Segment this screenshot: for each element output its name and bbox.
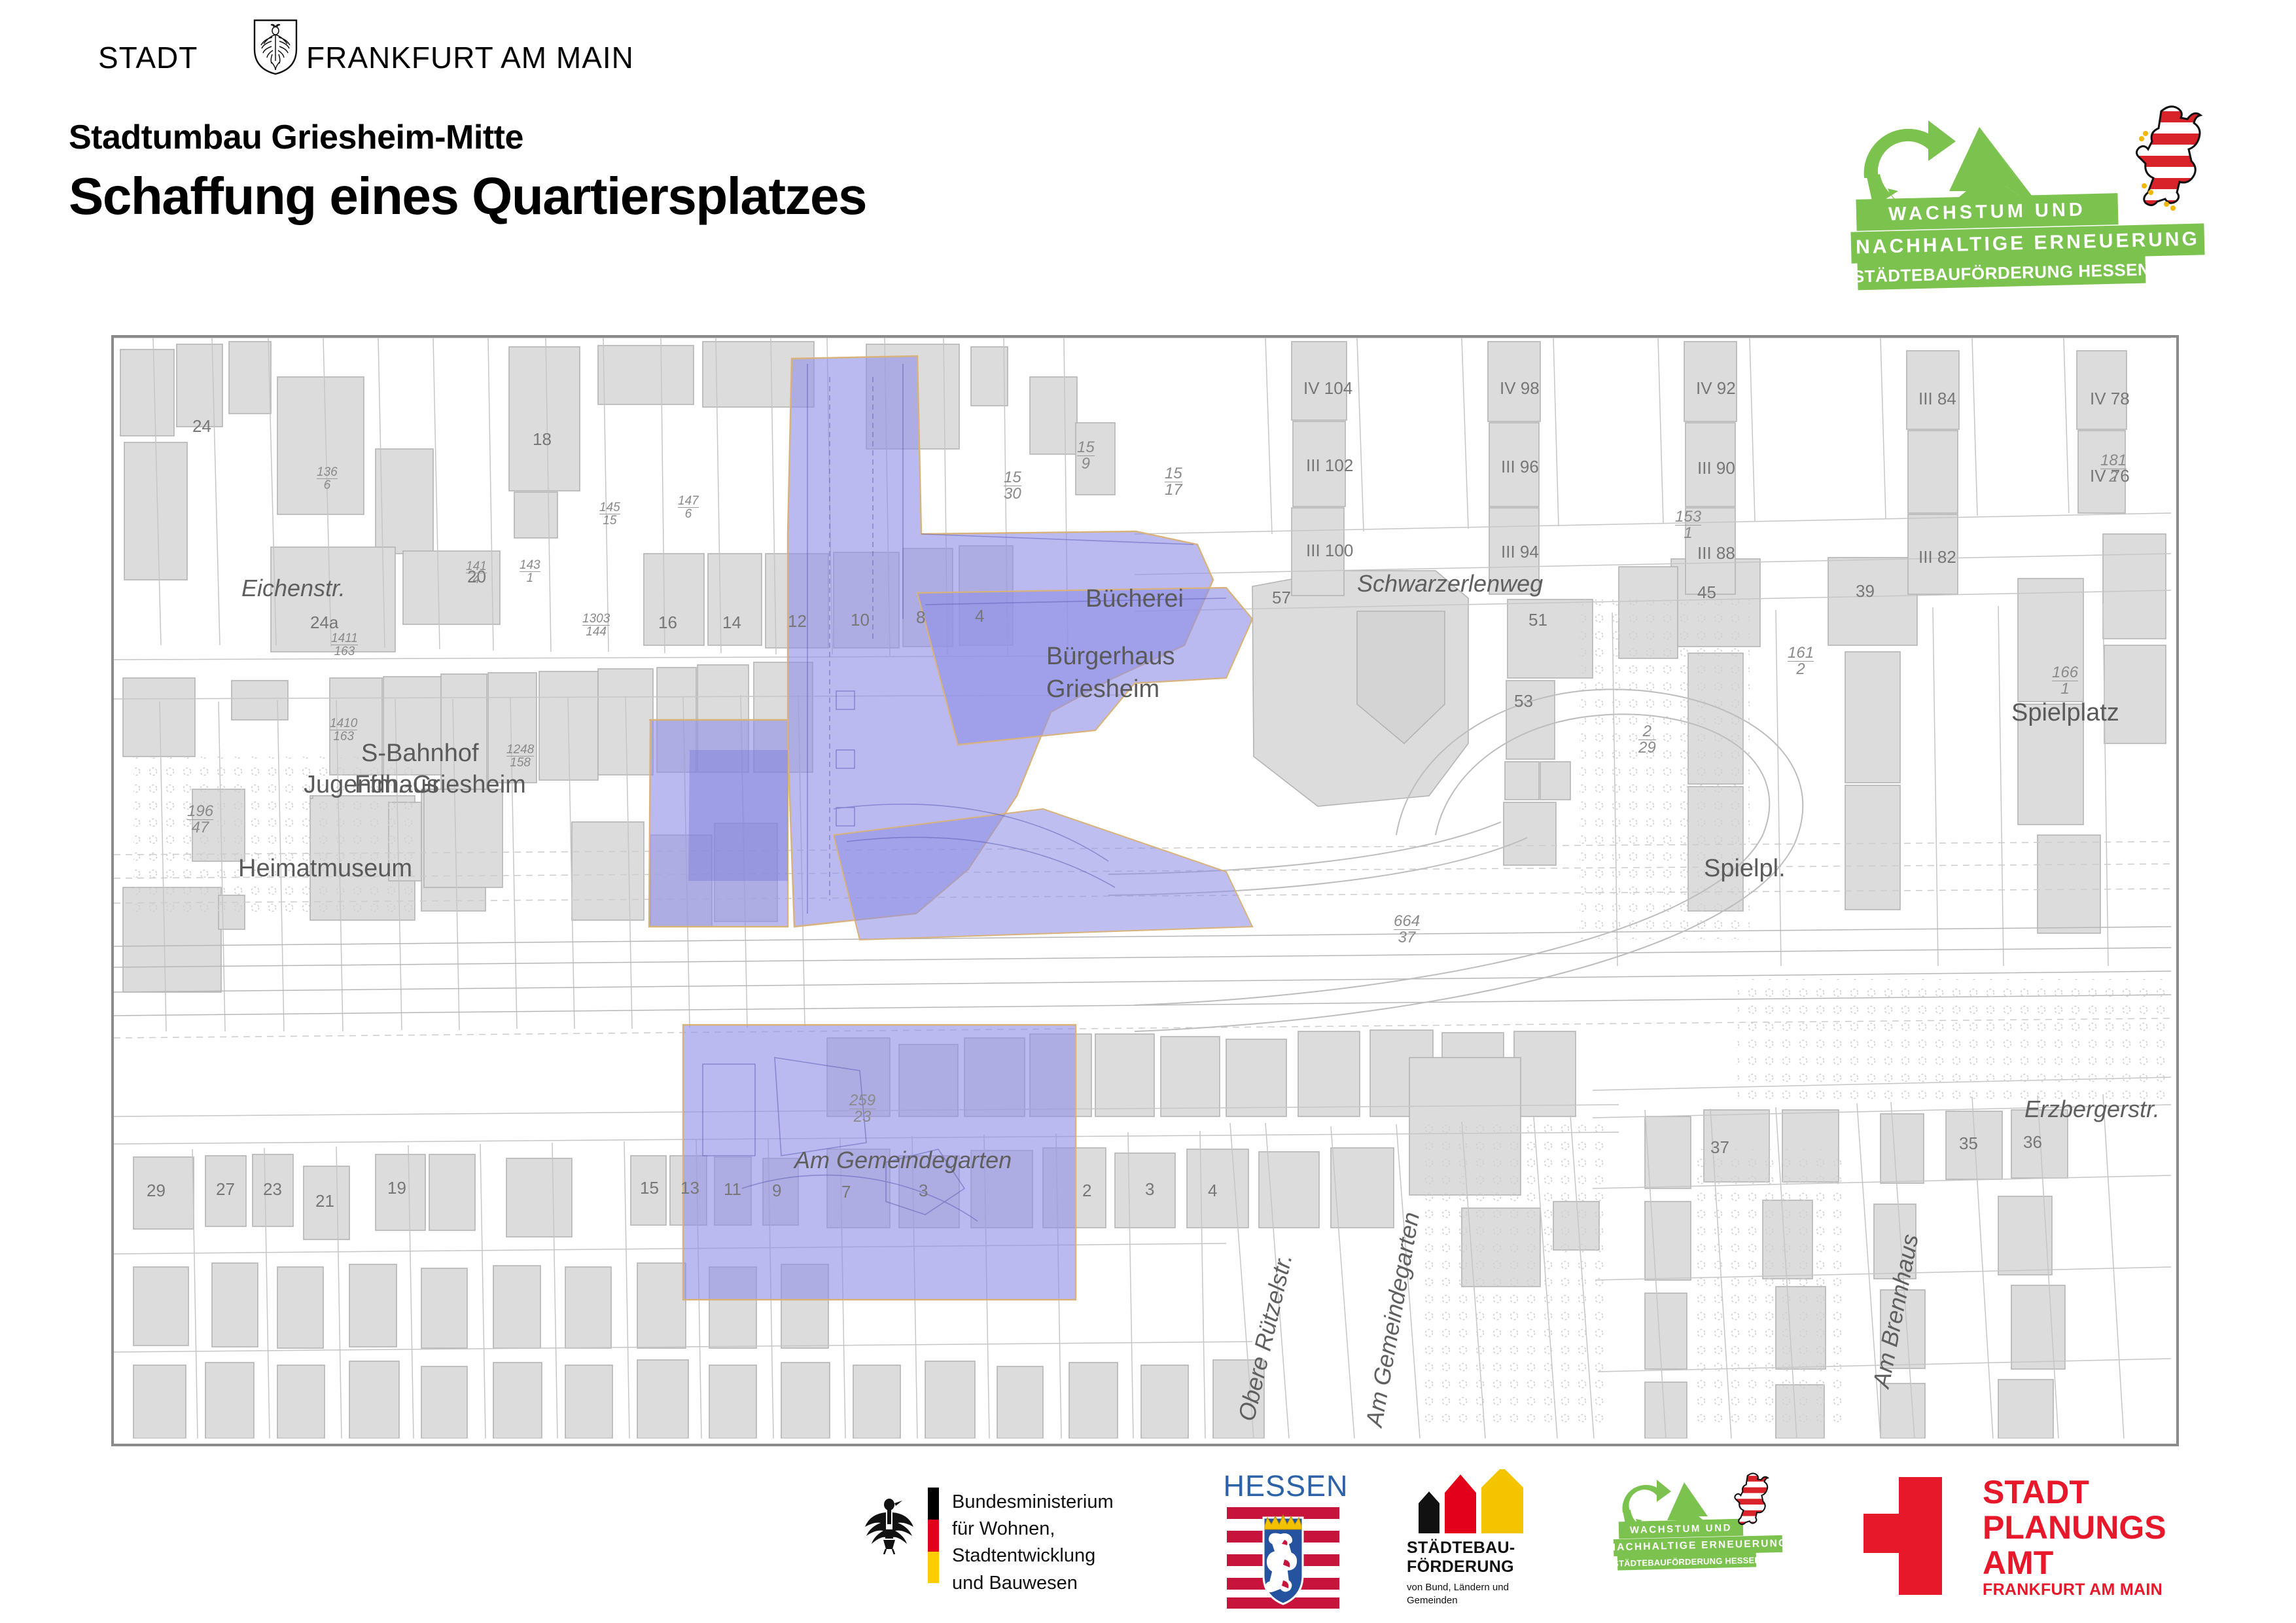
bund-line2: für Wohnen, Stadtentwicklung	[952, 1516, 1178, 1569]
bundesministerium-logo: Bundesministerium für Wohnen, Stadtentwi…	[864, 1476, 1178, 1600]
growth-renewal-logo-footer: WACHSTUM UND NACHHALTIGE ERNEUERUNG STÄD…	[1616, 1477, 1832, 1601]
stadtplanungsamt-mark-icon	[1858, 1477, 1956, 1595]
three-houses-icon	[1407, 1469, 1583, 1533]
hessen-lion-icon	[2132, 99, 2211, 214]
growth-renewal-logo: WACHSTUM UND NACHHALTIGE ERNEUERUNG STÄD…	[1851, 118, 2270, 262]
title-block: Stadtumbau Griesheim-Mitte Schaffung ein…	[69, 118, 866, 226]
growth-logo-line1: WACHSTUM UND	[1856, 193, 2118, 231]
map-vector-layer	[114, 338, 2171, 1438]
hessen-logo: HESSEN	[1220, 1469, 1351, 1607]
cadastral-map[interactable]: Eichenstr. Schwarzerlenweg Erzbergerstr.…	[111, 335, 2179, 1446]
page-subtitle: Stadtumbau Griesheim-Mitte	[69, 118, 866, 157]
german-flag-bar	[928, 1488, 939, 1583]
hessen-wordmark: HESSEN	[1220, 1469, 1351, 1503]
staedtebau-line1: STÄDTEBAU-	[1407, 1539, 1583, 1558]
spa-line2: PLANUNGS	[1983, 1508, 2166, 1546]
staedtebau-sub1: von Bund, Ländern und	[1407, 1581, 1583, 1594]
hessen-shield-icon	[1227, 1507, 1339, 1609]
growth-footer-line3: STÄDTEBAUFÖRDERUNG HESSEN	[1617, 1552, 1756, 1570]
bund-line1: Bundesministerium	[952, 1489, 1178, 1516]
page-title: Schaffung eines Quartiersplatzes	[69, 166, 866, 226]
stadtplanungsamt-logo: STADT PLANUNGS AMT FRANKFURT AM MAIN	[1858, 1474, 2225, 1605]
hessen-lion-icon	[1733, 1469, 1773, 1529]
bundesadler-icon	[864, 1494, 915, 1554]
funding-logos-footer: Bundesministerium für Wohnen, Stadtentwi…	[0, 1463, 2296, 1623]
staedtebaufoerderung-logo: STÄDTEBAU- FÖRDERUNG von Bund, Ländern u…	[1407, 1469, 1583, 1610]
spa-line1: STADT	[1983, 1473, 2089, 1511]
city-logo-word-frankfurt: FRANKFURT AM MAIN	[306, 40, 634, 75]
growth-footer-line1: WACHSTUM UND	[1619, 1519, 1744, 1539]
page-header: STADT FRANKFURT AM MAIN Stadtumbau Gries…	[0, 0, 2296, 327]
bund-line3: und Bauwesen	[952, 1570, 1178, 1597]
staedtebau-subtitle: von Bund, Ländern und Gemeinden	[1407, 1581, 1583, 1607]
bundesministerium-text: Bundesministerium für Wohnen, Stadtentwi…	[952, 1489, 1178, 1597]
spa-line4: FRANKFURT AM MAIN	[1983, 1580, 2163, 1599]
city-logo-word-stadt: STADT	[98, 40, 198, 75]
city-of-frankfurt-logo: STADT FRANKFURT AM MAIN	[98, 29, 517, 75]
staedtebau-sub2: Gemeinden	[1407, 1594, 1583, 1607]
spa-line3: AMT	[1983, 1544, 2053, 1582]
staedtebau-title: STÄDTEBAU- FÖRDERUNG	[1407, 1539, 1583, 1577]
growth-footer-line2: NACHHALTIGE ERNEUERUNG	[1614, 1535, 1783, 1556]
staedtebau-line2: FÖRDERUNG	[1407, 1558, 1583, 1577]
frankfurt-eagle-crest-icon	[252, 18, 299, 75]
